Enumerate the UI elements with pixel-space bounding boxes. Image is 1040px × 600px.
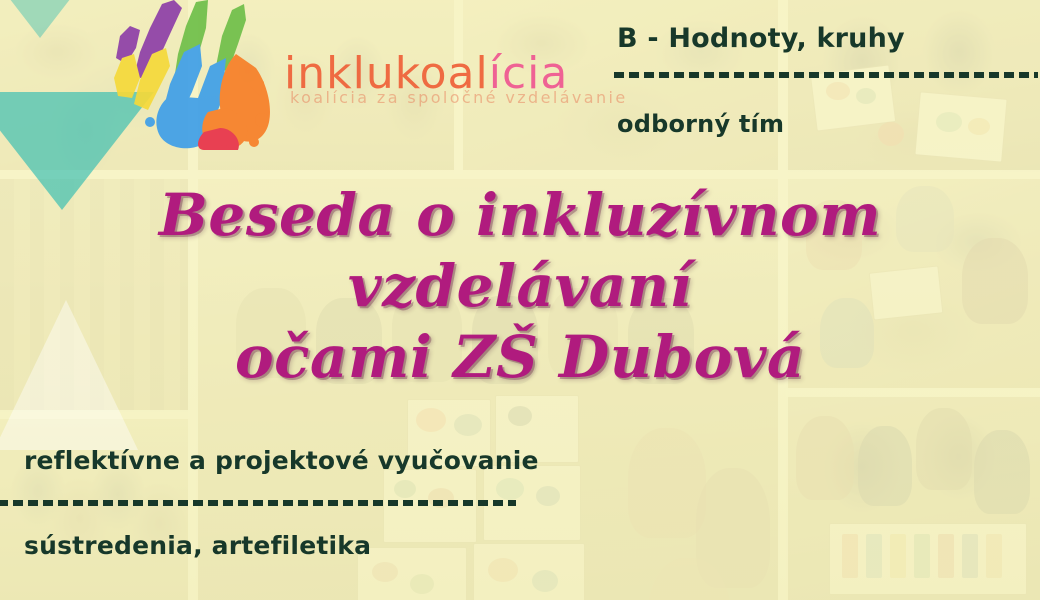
- heading-topic-values-circles: B - Hodnoty, kruhy: [617, 23, 905, 54]
- triangle-teal-small-icon: [6, 0, 74, 38]
- page-title: Beseda o inkluzívnom vzdelávaní očami ZŠ…: [0, 180, 1040, 392]
- page-title-line-1: Beseda o inkluzívnom: [0, 180, 1040, 251]
- divider-dashed-top: [614, 72, 1038, 78]
- divider-dashed-bottom: [0, 500, 516, 506]
- heading-reflective-teaching: reflektívne a projektové vyučovanie: [24, 446, 539, 475]
- page-title-line-2: vzdelávaní: [0, 251, 1040, 322]
- heading-retreats-artefiletics: sústredenia, artefiletika: [24, 531, 371, 560]
- paint-splash-hand-icon: [104, 0, 304, 150]
- page-title-line-3: očami ZŠ Dubová: [0, 322, 1040, 393]
- heading-expert-team: odborný tím: [617, 110, 784, 138]
- poster-canvas: inklukoalícia koalícia za spoločné vzdel…: [0, 0, 1040, 600]
- inklukoalicia-logo[interactable]: inklukoalícia koalícia za spoločné vzdel…: [104, 0, 574, 150]
- logo-tagline: koalícia za spoločné vzdelávanie: [290, 88, 628, 107]
